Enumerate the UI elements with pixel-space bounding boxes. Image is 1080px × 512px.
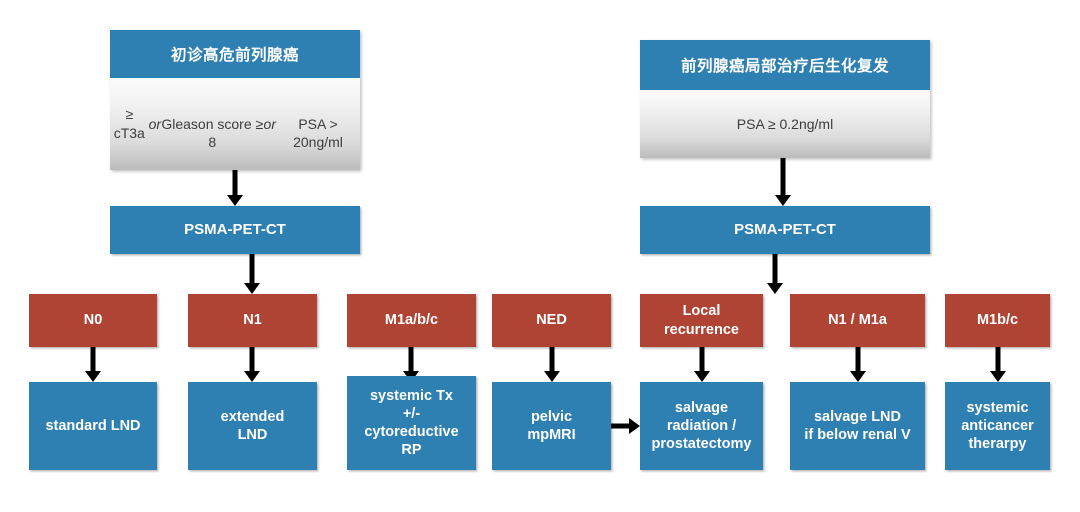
arrow-shaft <box>250 254 255 284</box>
arrow-shaft <box>409 347 414 372</box>
arrow-shaft <box>856 347 861 372</box>
arrow-head <box>767 283 783 294</box>
finding-label: N1 <box>243 311 262 329</box>
arrow-head <box>850 371 866 382</box>
arrow-shaft <box>781 158 786 196</box>
arrow-head <box>775 195 791 206</box>
arrow-head <box>85 371 101 382</box>
treatment-node-systemic-tx: systemic Tx +/- cytoreductive RP <box>347 376 476 470</box>
arrow-head <box>244 283 260 294</box>
finding-label: N1 / M1a <box>828 311 887 329</box>
finding-node-n1: N1 <box>188 294 317 347</box>
arrow-n1-m1a-to-salvage-lnd <box>850 347 866 382</box>
imaging-label: PSMA-PET-CT <box>184 221 286 240</box>
finding-label: Local recurrence <box>664 302 739 338</box>
finding-label: N0 <box>84 311 103 329</box>
arrow-head <box>227 195 243 206</box>
arrow-recurrence-to-imaging <box>775 158 791 206</box>
imaging-node-biochemical-recurrence: PSMA-PET-CT <box>640 206 930 254</box>
treatment-label: extended LND <box>221 408 285 444</box>
arrow-shaft <box>91 347 96 372</box>
arrow-initial-to-imaging <box>227 170 243 206</box>
flowchart-canvas: 初诊高危前列腺癌 ≥ cT3a orGleason score ≥ 8 orPS… <box>0 0 1080 512</box>
imaging-node-initial-diagnosis: PSMA-PET-CT <box>110 206 360 254</box>
treatment-label: salvage LND if below renal V <box>804 408 910 444</box>
finding-label: M1b/c <box>977 311 1018 329</box>
arrow-imaging-to-findings-right <box>767 254 783 294</box>
arrow-n1-to-extended-lnd <box>244 347 260 382</box>
treatment-node-salvage-lnd: salvage LND if below renal V <box>790 382 925 470</box>
treatment-label: systemic anticancer therarpy <box>961 399 1034 453</box>
entry-criteria-biochemical-recurrence: PSA ≥ 0.2ng/ml <box>640 90 930 158</box>
finding-label: M1a/b/c <box>385 311 438 329</box>
entry-card-biochemical-recurrence: 前列腺癌局部治疗后生化复发 PSA ≥ 0.2ng/ml <box>640 40 930 158</box>
finding-node-m1abc: M1a/b/c <box>347 294 476 347</box>
treatment-node-systemic-anticancer: systemic anticancer therarpy <box>945 382 1050 470</box>
treatment-label: standard LND <box>45 417 140 435</box>
entry-card-initial-diagnosis: 初诊高危前列腺癌 ≥ cT3a orGleason score ≥ 8 orPS… <box>110 30 360 170</box>
treatment-node-pelvic-mpmri: pelvic mpMRI <box>492 382 611 470</box>
arrow-shaft <box>996 347 1001 372</box>
arrow-head <box>990 371 1006 382</box>
finding-node-m1bc: M1b/c <box>945 294 1050 347</box>
finding-node-ned: NED <box>492 294 611 347</box>
treatment-node-standard-lnd: standard LND <box>29 382 157 470</box>
finding-node-n0: N0 <box>29 294 157 347</box>
arrow-shaft <box>700 347 705 372</box>
arrow-pelvic-mpmri-to-salvage-radiation <box>611 417 640 435</box>
entry-header-initial-diagnosis: 初诊高危前列腺癌 <box>110 30 360 78</box>
arrow-head <box>694 371 710 382</box>
arrow-imaging-to-findings-left <box>244 254 260 294</box>
arrow-head <box>244 371 260 382</box>
arrow-local-recurrence-to-salvage-radiation <box>694 347 710 382</box>
arrow-shaft <box>550 347 555 372</box>
entry-header-biochemical-recurrence: 前列腺癌局部治疗后生化复发 <box>640 40 930 90</box>
finding-node-local-recurrence: Local recurrence <box>640 294 763 347</box>
treatment-node-salvage-radiation: salvage radiation / prostatectomy <box>640 382 763 470</box>
treatment-label: systemic Tx +/- cytoreductive RP <box>364 387 458 460</box>
arrow-head <box>544 371 560 382</box>
arrow-shaft <box>611 424 631 429</box>
arrow-head <box>629 418 640 434</box>
finding-label: NED <box>536 311 567 329</box>
imaging-label: PSMA-PET-CT <box>734 221 836 240</box>
arrow-n0-to-standard-lnd <box>85 347 101 382</box>
finding-node-n1-m1a: N1 / M1a <box>790 294 925 347</box>
arrow-m1bc-to-systemic-anticancer <box>990 347 1006 382</box>
treatment-label: pelvic mpMRI <box>527 408 575 444</box>
arrow-shaft <box>250 347 255 372</box>
arrow-shaft <box>233 170 238 196</box>
arrow-ned-to-pelvic-mpmri <box>544 347 560 382</box>
treatment-node-extended-lnd: extended LND <box>188 382 317 470</box>
arrow-shaft <box>773 254 778 284</box>
entry-criteria-initial-diagnosis: ≥ cT3a orGleason score ≥ 8 orPSA > 20ng/… <box>110 78 360 170</box>
treatment-label: salvage radiation / prostatectomy <box>652 399 752 453</box>
